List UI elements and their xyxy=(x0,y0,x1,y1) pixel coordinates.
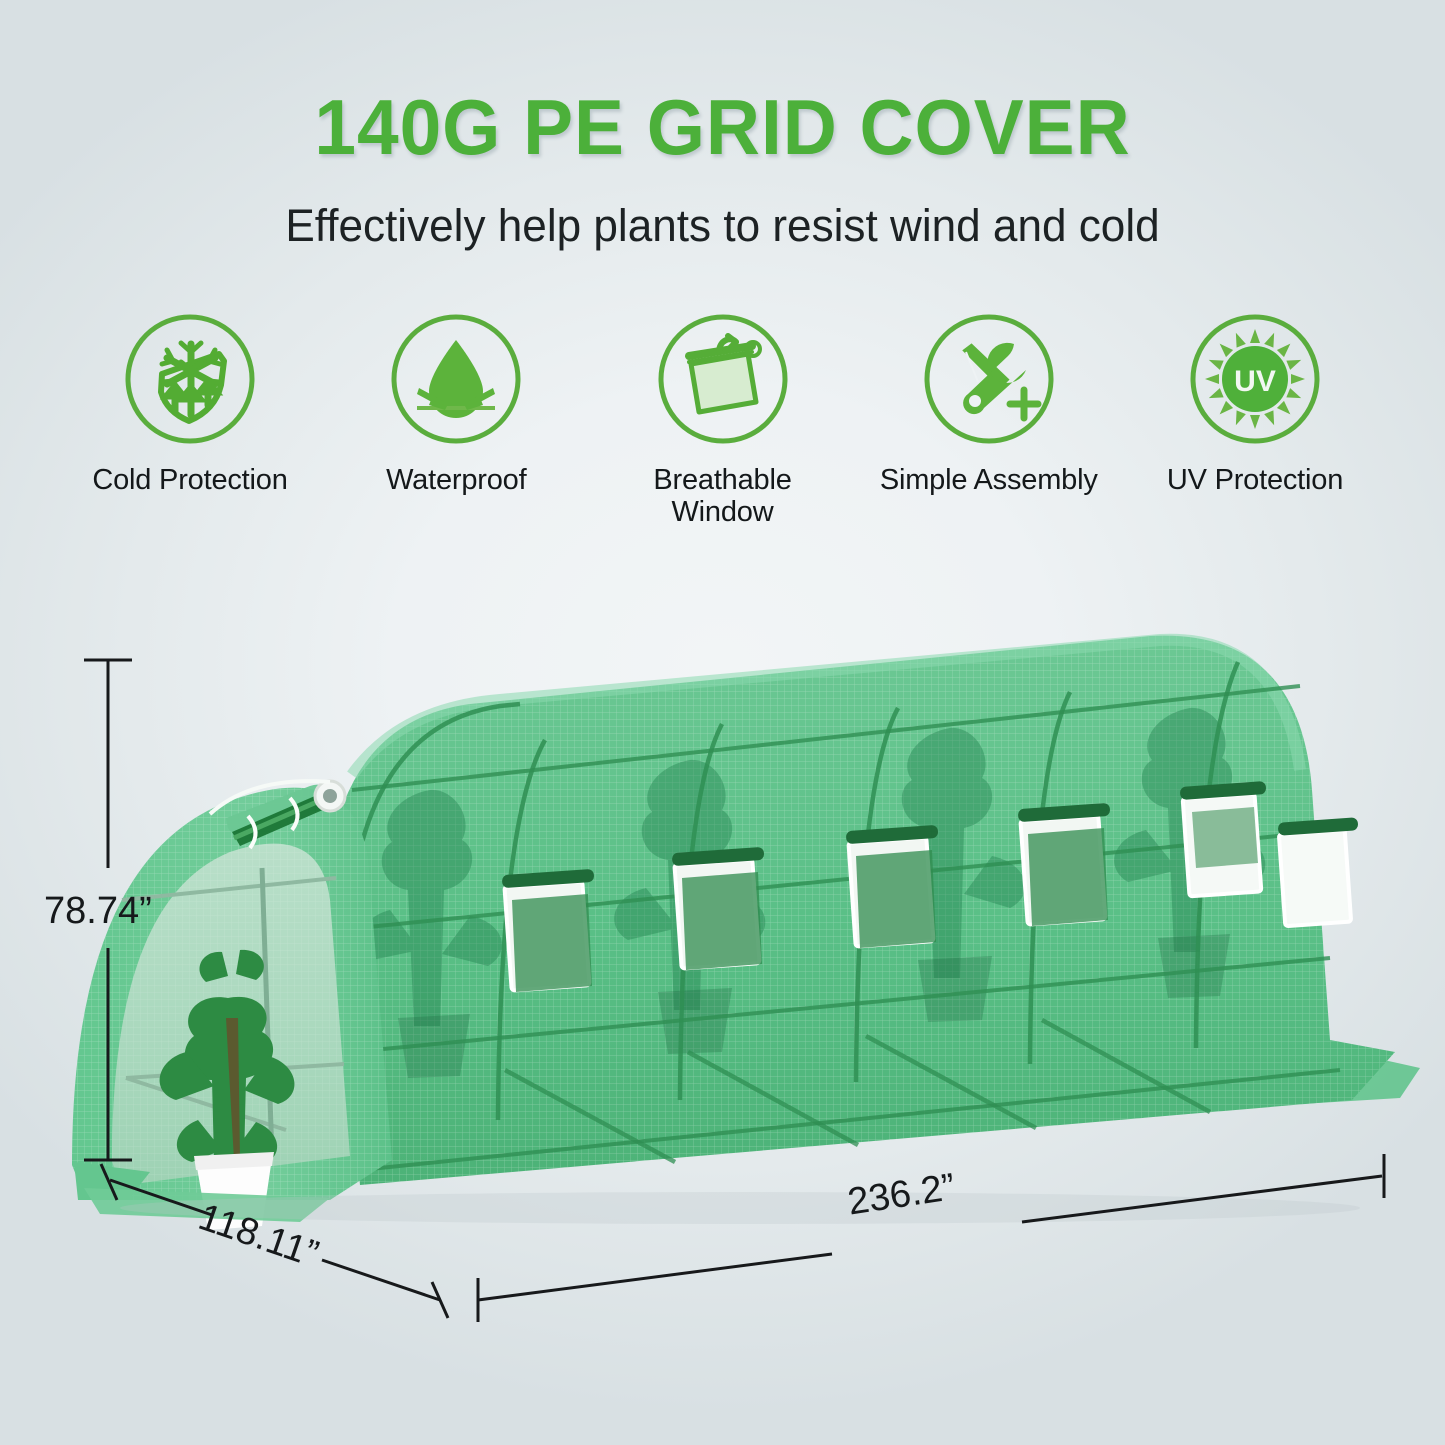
snowflake-shield-icon xyxy=(123,312,257,446)
page-subtitle: Effectively help plants to resist wind a… xyxy=(14,200,1430,252)
side-window xyxy=(1018,803,1111,926)
page-title: 140G PE GRID COVER xyxy=(29,82,1416,173)
feature-item-simple-assembly: Simple Assembly xyxy=(859,312,1119,496)
dimension-label-height: 78.74” xyxy=(44,890,152,933)
feature-list: Cold Protection Waterproof xyxy=(60,312,1385,552)
greenhouse-body xyxy=(330,636,1395,1185)
feature-item-cold-protection: Cold Protection xyxy=(60,312,320,496)
uv-icon-text: UV xyxy=(1234,365,1276,398)
product-illustration xyxy=(0,600,1445,1445)
feature-label: UV Protection xyxy=(1167,464,1343,496)
feature-label-line2: Window xyxy=(672,496,774,528)
feature-label: Cold Protection xyxy=(92,464,287,496)
side-window xyxy=(846,825,939,948)
feature-item-waterproof: Waterproof xyxy=(326,312,586,496)
infographic-canvas: 140G PE GRID COVER Effectively help plan… xyxy=(0,0,1445,1445)
side-window xyxy=(1180,781,1267,896)
feature-label: Simple Assembly xyxy=(880,464,1098,496)
uv-sun-icon: UV xyxy=(1188,312,1322,446)
feature-label-line1: Breathable xyxy=(653,464,791,496)
feature-label: Breathable Window xyxy=(653,464,791,529)
water-droplet-icon xyxy=(389,312,523,446)
feature-item-breathable-window: Breathable Window xyxy=(593,312,853,529)
side-window xyxy=(502,869,595,992)
feature-item-uv-protection: UV UV Protection xyxy=(1125,312,1385,496)
side-window xyxy=(1278,817,1359,926)
greenhouse-front xyxy=(72,781,392,1230)
roll-up-window-icon xyxy=(656,312,790,446)
side-window xyxy=(672,847,765,970)
feature-label: Waterproof xyxy=(386,464,526,496)
wrench-screwdriver-icon xyxy=(922,312,1056,446)
